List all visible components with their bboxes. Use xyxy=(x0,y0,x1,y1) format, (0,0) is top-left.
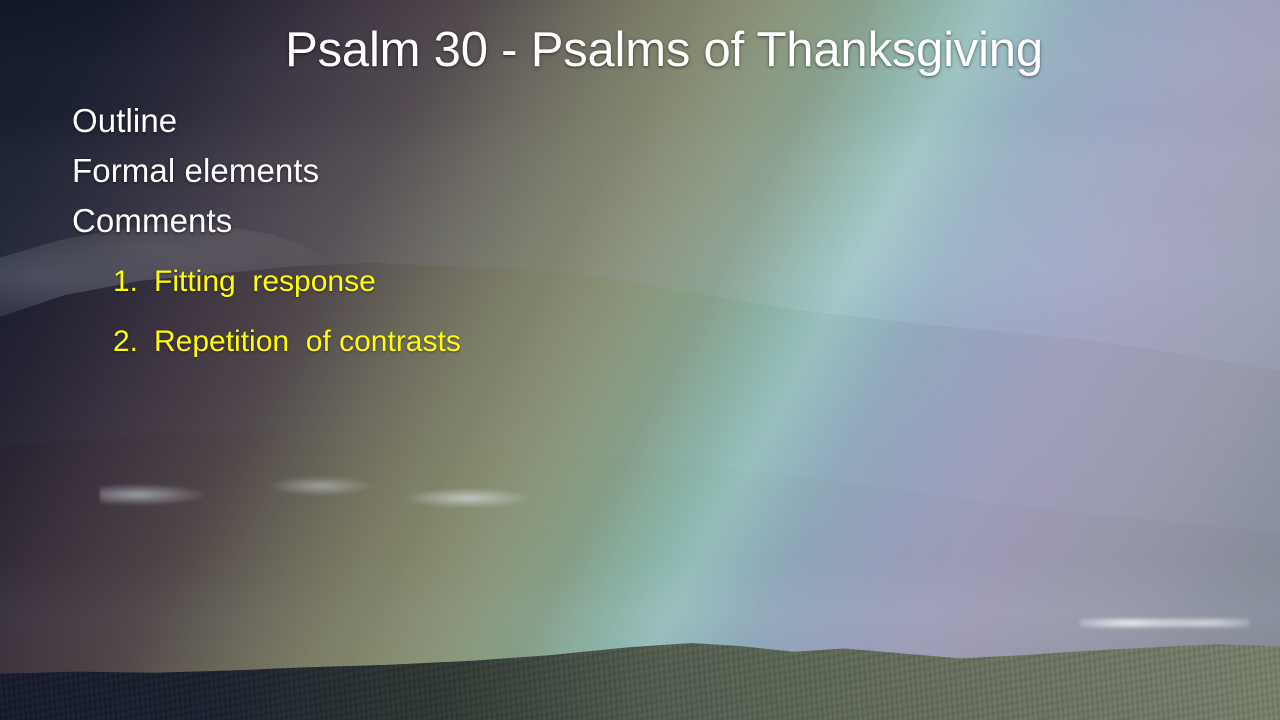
numbered-item-2-label: Repetition of contrasts xyxy=(154,312,461,372)
outline-list: Outline Formal elements Comments xyxy=(72,96,319,246)
numbered-item-2-marker: 2. xyxy=(113,312,154,372)
slide-text-layer: Psalm 30 - Psalms of Thanksgiving Outlin… xyxy=(0,0,1280,720)
numbered-item-1: 1. Fitting response xyxy=(113,252,461,312)
outline-item-outline: Outline xyxy=(72,96,319,146)
numbered-list: 1. Fitting response 2. Repetition of con… xyxy=(113,252,461,372)
numbered-item-1-label: Fitting response xyxy=(154,252,376,312)
outline-item-formal-elements: Formal elements xyxy=(72,146,319,196)
slide-title: Psalm 30 - Psalms of Thanksgiving xyxy=(0,24,1280,77)
numbered-item-2: 2. Repetition of contrasts xyxy=(113,312,461,372)
presentation-slide: Psalm 30 - Psalms of Thanksgiving Outlin… xyxy=(0,0,1280,720)
outline-item-comments: Comments xyxy=(72,196,319,246)
numbered-item-1-marker: 1. xyxy=(113,252,154,312)
